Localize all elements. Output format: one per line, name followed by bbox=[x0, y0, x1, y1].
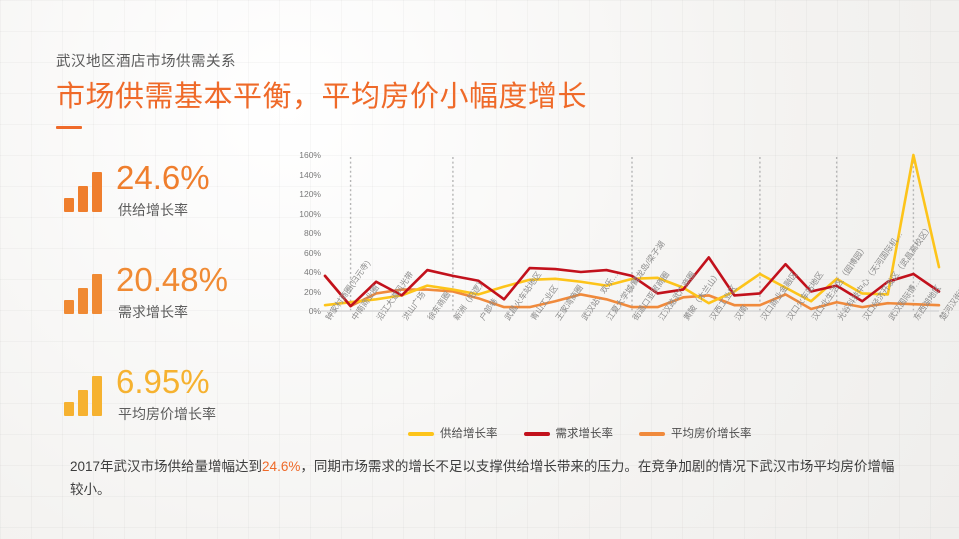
y-axis-tick-label: 80% bbox=[281, 228, 321, 238]
legend-item-supply: 供给增长率 bbox=[408, 426, 498, 442]
page-kicker: 武汉地区酒店市场供需关系 bbox=[56, 52, 587, 72]
y-axis-tick-label: 100% bbox=[281, 209, 321, 219]
kpi-label: 供给增长率 bbox=[118, 200, 188, 220]
footnote-part1: 2017年武汉市场供给量增幅达到 bbox=[70, 459, 262, 474]
y-axis-tick-label: 20% bbox=[281, 287, 321, 297]
legend-label: 平均房价增长率 bbox=[671, 426, 752, 442]
bar-chart-icon bbox=[64, 376, 106, 416]
y-axis-tick-label: 60% bbox=[281, 248, 321, 258]
y-axis-tick-label: 120% bbox=[281, 189, 321, 199]
kpi-stat-supply: 24.6% 供给增长率 bbox=[60, 160, 275, 238]
y-axis-tick-label: 140% bbox=[281, 170, 321, 180]
kpi-label: 平均房价增长率 bbox=[118, 404, 216, 424]
y-axis-tick-label: 0% bbox=[281, 306, 321, 316]
legend-item-adr: 平均房价增长率 bbox=[639, 426, 752, 442]
kpi-label: 需求增长率 bbox=[118, 302, 188, 322]
kpi-value: 6.95% bbox=[116, 360, 210, 404]
y-axis-tick-label: 160% bbox=[281, 150, 321, 160]
title-underline-rule bbox=[56, 126, 82, 129]
y-axis-tick-label: 40% bbox=[281, 267, 321, 277]
page-header: 武汉地区酒店市场供需关系 市场供需基本平衡，平均房价小幅度增长 bbox=[56, 52, 587, 129]
legend-swatch bbox=[524, 432, 550, 436]
legend-label: 需求增长率 bbox=[556, 426, 614, 442]
page-title: 市场供需基本平衡，平均房价小幅度增长 bbox=[56, 76, 587, 118]
legend-swatch bbox=[639, 432, 665, 436]
line-chart: 0%20%40%60%80%100%120%140%160% 钟家村商圈(归元寺… bbox=[281, 143, 949, 453]
chart-legend: 供给增长率 需求增长率 平均房价增长率 bbox=[408, 426, 752, 442]
legend-item-demand: 需求增长率 bbox=[524, 426, 614, 442]
kpi-stat-list: 24.6% 供给增长率 20.48% 需求增长率 6.95% 平均房价增长率 bbox=[60, 160, 275, 466]
kpi-stat-demand: 20.48% 需求增长率 bbox=[60, 262, 275, 340]
kpi-value: 20.48% bbox=[116, 258, 228, 302]
footnote-text: 2017年武汉市场供给量增幅达到24.6%，同期市场需求的增长不足以支撑供给增长… bbox=[70, 455, 900, 501]
legend-label: 供给增长率 bbox=[440, 426, 498, 442]
kpi-value: 24.6% bbox=[116, 156, 210, 200]
legend-swatch bbox=[408, 432, 434, 436]
kpi-stat-adr: 6.95% 平均房价增长率 bbox=[60, 364, 275, 442]
bar-chart-icon bbox=[64, 274, 106, 314]
bar-chart-icon bbox=[64, 172, 106, 212]
footnote-highlight: 24.6% bbox=[262, 459, 300, 474]
